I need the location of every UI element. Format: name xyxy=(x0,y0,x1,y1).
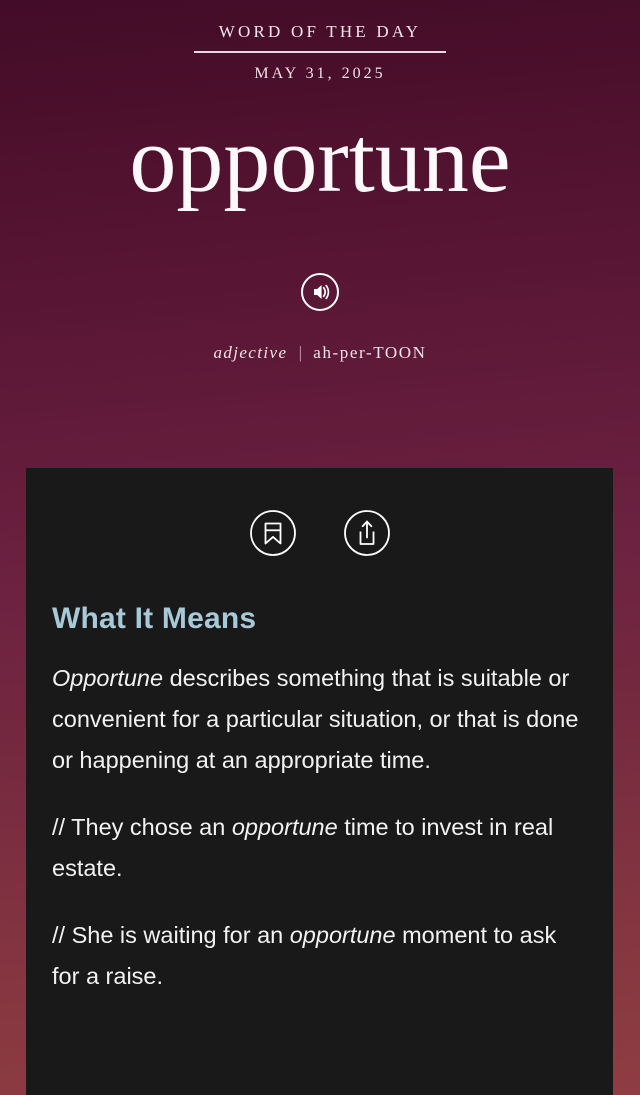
definition-card: What It Means Opportune describes someth… xyxy=(26,468,613,1095)
example-sentence-1: // They chose an opportune time to inves… xyxy=(50,807,589,889)
pronunciation-row: adjective | ah-per-TOON xyxy=(0,343,640,363)
speaker-audio-icon[interactable] xyxy=(300,272,340,312)
header-divider xyxy=(194,51,446,53)
section-title-what-it-means: What It Means xyxy=(50,602,589,636)
example-2-italic-word: opportune xyxy=(290,922,396,948)
part-of-speech: adjective xyxy=(213,343,287,362)
card-action-bar xyxy=(50,508,589,558)
definition-lead-word: Opportune xyxy=(52,665,163,691)
definition-paragraph: Opportune describes something that is su… xyxy=(50,658,589,781)
bookmark-icon[interactable] xyxy=(248,508,298,558)
example-1-prefix: // They chose an xyxy=(52,814,232,840)
word-of-the-day-label: WORD OF THE DAY xyxy=(219,22,421,42)
headword: opportune xyxy=(0,111,640,210)
share-icon[interactable] xyxy=(342,508,392,558)
pronunciation-respelling: ah-per-TOON xyxy=(313,343,426,362)
pronunciation-separator: | xyxy=(292,343,309,362)
example-2-prefix: // She is waiting for an xyxy=(52,922,290,948)
audio-row xyxy=(0,272,640,317)
example-1-italic-word: opportune xyxy=(232,814,338,840)
header: WORD OF THE DAY MAY 31, 2025 xyxy=(0,0,640,83)
example-sentence-2: // She is waiting for an opportune momen… xyxy=(50,915,589,997)
date-label: MAY 31, 2025 xyxy=(0,65,640,83)
